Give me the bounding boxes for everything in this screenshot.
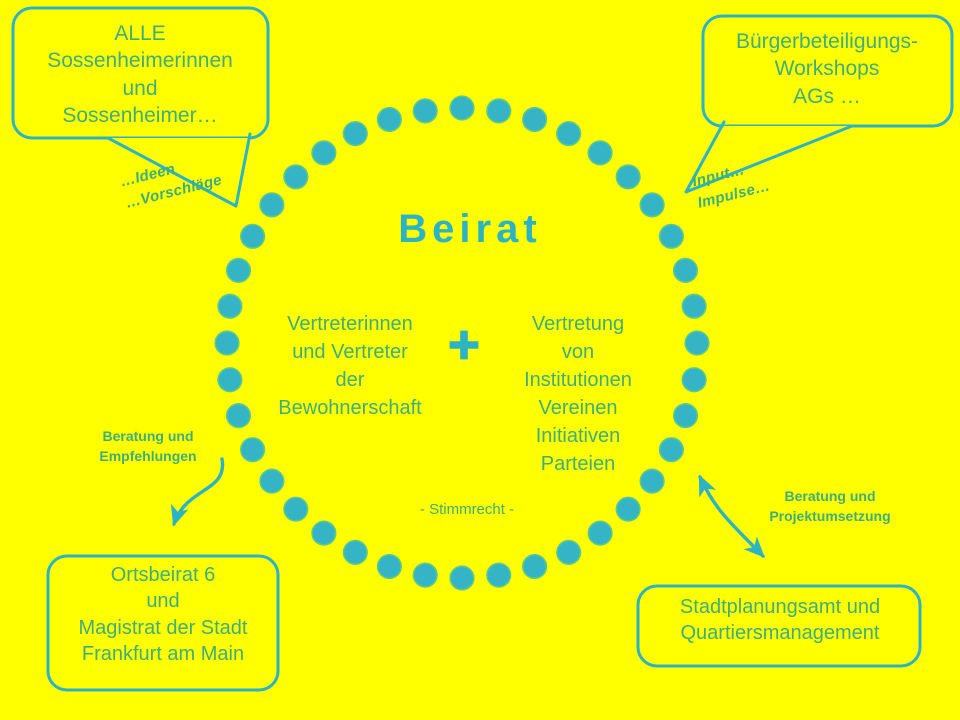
footnote-stimmrecht: - Stimmrecht -	[382, 500, 552, 519]
ring-dot-halo	[259, 192, 284, 217]
ring-dot-halo	[449, 565, 474, 590]
ring-dot	[683, 295, 705, 317]
plus-icon	[447, 328, 481, 362]
ring-dot	[219, 369, 241, 391]
ring-dot	[488, 100, 510, 122]
ring-dot	[451, 97, 473, 119]
ring-dot-halo	[259, 469, 284, 494]
ring-dot-halo	[673, 258, 698, 283]
ring-dot	[524, 556, 546, 578]
ring-dot	[242, 439, 264, 461]
page-title-beirat: Beirat	[330, 204, 610, 255]
arrow-label-beratung-projektumsetzung: Beratung und Projektumsetzung	[740, 487, 920, 527]
ring-dot	[524, 109, 546, 131]
ring-dot	[617, 498, 639, 520]
ring-dot-halo	[556, 540, 581, 565]
ring-dot-halo	[377, 554, 402, 579]
tail-label-input-impulse: Input… Impulse…	[690, 141, 827, 215]
ring-dot-halo	[283, 497, 308, 522]
ring-dot	[378, 109, 400, 131]
ring-dot	[414, 100, 436, 122]
ring-dot	[285, 498, 307, 520]
ring-dot-halo	[588, 140, 613, 165]
ring-dot-halo	[682, 367, 707, 392]
ring-dot-halo	[343, 121, 368, 146]
center-column-bewohnerschaft: Vertreterinnen und Vertreter der Bewohne…	[262, 310, 438, 422]
ring-dot-halo	[673, 403, 698, 428]
ring-dot	[488, 564, 510, 586]
ring-dot-halo	[522, 554, 547, 579]
ring-dot	[617, 166, 639, 188]
ring-dot-halo	[659, 224, 684, 249]
ring-dot	[660, 225, 682, 247]
arrow-label-beratung-empfehlungen: Beratung und Empfehlungen	[76, 427, 220, 467]
ring-dot-halo	[377, 107, 402, 132]
ring-dot	[558, 123, 580, 145]
ring-dot-halo	[413, 563, 438, 588]
ring-dot-halo	[226, 403, 251, 428]
box-stadtplanungsamt-label: Stadtplanungsamt und Quartiersmanagement	[644, 594, 916, 647]
box-ortsbeirat-label: Ortsbeirat 6 und Magistrat der Stadt Fra…	[52, 562, 274, 668]
ring-dot-halo	[311, 140, 336, 165]
ring-dot	[228, 405, 250, 427]
ring-dot	[414, 564, 436, 586]
ring-dot	[344, 541, 366, 563]
ring-dot-halo	[486, 563, 511, 588]
arrow-beratung-empfehlungen	[174, 459, 223, 524]
ring-dot-halo	[240, 437, 265, 462]
ring-dot	[675, 405, 697, 427]
ring-dot-halo	[413, 98, 438, 123]
ring-dot	[558, 541, 580, 563]
ring-dot-halo	[616, 164, 641, 189]
ring-dot	[261, 470, 283, 492]
ring-dot-halo	[343, 540, 368, 565]
ring-dot	[285, 166, 307, 188]
ring-dot	[589, 522, 611, 544]
ring-dot-halo	[283, 164, 308, 189]
ring-dot-halo	[640, 192, 665, 217]
ring-dot-halo	[311, 521, 336, 546]
ring-dot	[686, 332, 708, 354]
ring-dot-halo	[588, 521, 613, 546]
diagram-canvas: ALLE Sossenheimerinnen und Sossenheimer……	[0, 0, 960, 720]
ring-dot-halo	[522, 107, 547, 132]
ring-dot-halo	[682, 294, 707, 319]
ring-dot	[683, 369, 705, 391]
ring-dot	[242, 225, 264, 247]
ring-dot	[675, 259, 697, 281]
ring-dot	[378, 556, 400, 578]
ring-dot-halo	[616, 497, 641, 522]
ring-dot	[216, 332, 238, 354]
ring-dot	[641, 194, 663, 216]
ring-dot-halo	[556, 121, 581, 146]
ring-dot-halo	[449, 95, 474, 120]
tail-label-ideen-vorschlaege: …Ideen …Vorschläge	[118, 141, 255, 215]
ring-dot	[313, 142, 335, 164]
bubble-buergerbeteiligung-label: Bürgerbeteiligungs- Workshops AGs …	[712, 28, 942, 110]
ring-dot-halo	[240, 224, 265, 249]
ring-dot-halo	[214, 330, 239, 355]
ring-dot-halo	[486, 98, 511, 123]
ring-dot	[228, 259, 250, 281]
ring-dot	[344, 123, 366, 145]
ring-dot-halo	[217, 367, 242, 392]
ring-dot	[589, 142, 611, 164]
center-column-institutionen: Vertretung von Institutionen Vereinen In…	[490, 310, 666, 478]
ring-dot-halo	[684, 330, 709, 355]
ring-dot	[219, 295, 241, 317]
ring-dot	[451, 567, 473, 589]
ring-dot	[313, 522, 335, 544]
ring-dot-halo	[226, 258, 251, 283]
bubble-alle-sossenheimer-label: ALLE Sossenheimerinnen und Sossenheimer…	[20, 20, 260, 129]
ring-dot-halo	[217, 294, 242, 319]
ring-dot	[261, 194, 283, 216]
